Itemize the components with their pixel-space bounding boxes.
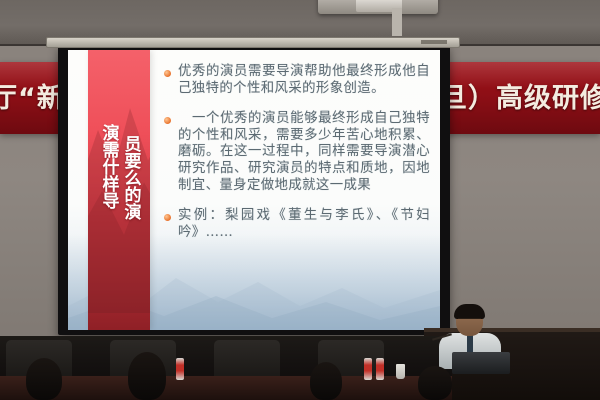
audience-head <box>26 358 62 400</box>
title-column-a: 演需什样导 <box>98 124 119 220</box>
slide-bullet: 实例：梨园戏《董生与李氏》、《节妇吟》…… <box>164 208 430 241</box>
audience-head <box>310 362 342 400</box>
slide-bullet-text: 优秀的演员需要导演帮助他最终形成他自己独特的个性和风采的形象创造。 <box>178 64 430 97</box>
audience-head <box>418 366 452 400</box>
title-column-b: 员要么的演 <box>120 135 141 220</box>
presenter-hair <box>454 304 485 319</box>
bullet-dot-icon <box>164 214 171 221</box>
bullet-dot-icon <box>164 70 171 77</box>
slide-body: 优秀的演员需要导演帮助他最终形成他自己独特的个性和风采的形象创造。 一个优秀的演… <box>164 64 430 255</box>
glasses-icon <box>458 318 481 324</box>
slide-title-panel: 演需什样导 员要么的演 <box>88 50 150 330</box>
water-bottle <box>176 358 184 380</box>
slide-bullet-text: 实例：梨园戏《董生与李氏》、《节妇吟》…… <box>178 208 430 241</box>
paper-cup <box>396 364 405 379</box>
powerpoint-slide: 演需什样导 员要么的演 优秀的演员需要导演帮助他最终形成他自己独特的个性和风采的… <box>68 50 440 330</box>
slide-title-text: 演需什样导 员要么的演 <box>88 124 150 220</box>
projection-screen-frame: 演需什样导 员要么的演 优秀的演员需要导演帮助他最终形成他自己独特的个性和风采的… <box>58 45 450 335</box>
banner-text-left: 厅“新 <box>0 68 65 130</box>
audience-desk <box>0 376 452 400</box>
roller-brand-badge <box>421 40 447 44</box>
slide-bullet: 一个优秀的演员能够最终形成自己独特的个性和风采，需要多少年苦心地积累、磨砺。在这… <box>164 111 430 194</box>
slide-bullet: 优秀的演员需要导演帮助他最终形成他自己独特的个性和风采的形象创造。 <box>164 64 430 97</box>
lecture-hall-screenshot: 厅“新 武旦）高级研修班 演需什样导 <box>0 0 600 400</box>
slide-bullet-text: 一个优秀的演员能够最终形成自己独特的个性和风采，需要多少年苦心地积累、磨砺。在这… <box>178 111 430 194</box>
water-bottle <box>376 358 384 380</box>
projector-screen-roller[interactable] <box>46 37 460 48</box>
laptop <box>452 352 510 374</box>
projection-screen-surface: 演需什样导 员要么的演 优秀的演员需要导演帮助他最终形成他自己独特的个性和风采的… <box>68 50 440 330</box>
audience-head <box>128 352 166 400</box>
bullet-dot-icon <box>164 117 171 124</box>
water-bottle <box>364 358 372 380</box>
projector-mount-arm <box>392 8 402 36</box>
